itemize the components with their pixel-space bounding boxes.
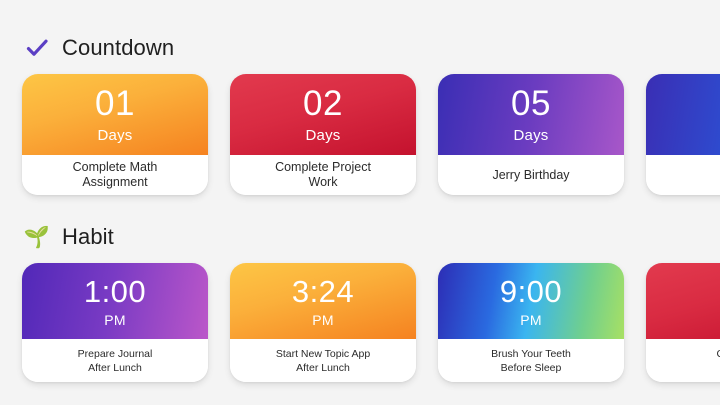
card-label-area: App Pres (646, 155, 720, 195)
card-label-line1: Complete Project (275, 160, 371, 175)
card-label-line2: Work (309, 175, 338, 190)
card-unit: PM (520, 313, 541, 327)
card-value: 01 (95, 86, 135, 121)
card-label-area: Start New Topic App After Lunch (230, 339, 416, 382)
card-label-line2: After Lunch (88, 361, 142, 375)
card-label-line1: Complete (717, 347, 720, 361)
section-title-countdown: Countdown (62, 35, 174, 61)
countdown-card[interactable]: 05 Days Jerry Birthday (438, 74, 624, 195)
card-label-line1: Start New Topic App (276, 347, 370, 361)
card-unit: PM (312, 313, 333, 327)
card-label-line2: After Lunch (296, 361, 350, 375)
habit-card[interactable]: 5: Complete Afte (646, 263, 720, 382)
card-label-line2: Assignment (82, 175, 147, 190)
card-label-area: Prepare Journal After Lunch (22, 339, 208, 382)
card-label-line1: Complete Math (73, 160, 158, 175)
card-label-line1: Jerry Birthday (492, 168, 569, 183)
card-value: 3:24 (292, 276, 354, 307)
section-header-countdown: Countdown (24, 33, 174, 63)
card-value: 02 (303, 86, 343, 121)
habit-card-row[interactable]: 1:00 PM Prepare Journal After Lunch 3:24… (22, 263, 720, 382)
habit-card[interactable]: 9:00 PM Brush Your Teeth Before Sleep (438, 263, 624, 382)
card-value-area: 3:24 PM (230, 263, 416, 339)
card-label-line2: Before Sleep (501, 361, 562, 375)
card-value-area: 1:00 PM (22, 263, 208, 339)
card-unit: PM (104, 313, 125, 327)
habit-card[interactable]: 1:00 PM Prepare Journal After Lunch (22, 263, 208, 382)
card-label-area: Complete Afte (646, 339, 720, 382)
card-value-area: 02 Days (230, 74, 416, 155)
card-label-area: Complete Project Work (230, 155, 416, 195)
countdown-card[interactable]: 01 Days Complete Math Assignment (22, 74, 208, 195)
card-value: 05 (511, 86, 551, 121)
section-header-habit: 🌱 Habit (24, 222, 114, 252)
card-value-area: 01 Days (22, 74, 208, 155)
seedling-icon: 🌱 (24, 224, 50, 250)
card-value-area: 5: (646, 263, 720, 339)
check-icon (24, 35, 50, 61)
card-label-area: Jerry Birthday (438, 155, 624, 195)
section-title-habit: Habit (62, 224, 114, 250)
card-value-area: 1 D (646, 74, 720, 155)
habit-card[interactable]: 3:24 PM Start New Topic App After Lunch (230, 263, 416, 382)
card-label-line1: Brush Your Teeth (491, 347, 571, 361)
card-label-area: Complete Math Assignment (22, 155, 208, 195)
countdown-card-row[interactable]: 01 Days Complete Math Assignment 02 Days… (22, 74, 720, 195)
app-screen: Countdown 01 Days Complete Math Assignme… (0, 0, 720, 405)
card-value: 9:00 (500, 276, 562, 307)
card-unit: Days (306, 128, 341, 143)
countdown-card[interactable]: 02 Days Complete Project Work (230, 74, 416, 195)
card-value-area: 9:00 PM (438, 263, 624, 339)
card-label-area: Brush Your Teeth Before Sleep (438, 339, 624, 382)
countdown-card[interactable]: 1 D App Pres (646, 74, 720, 195)
card-value: 1:00 (84, 276, 146, 307)
card-unit: Days (514, 128, 549, 143)
card-value-area: 05 Days (438, 74, 624, 155)
card-unit: Days (98, 128, 133, 143)
card-label-line1: Prepare Journal (78, 347, 153, 361)
